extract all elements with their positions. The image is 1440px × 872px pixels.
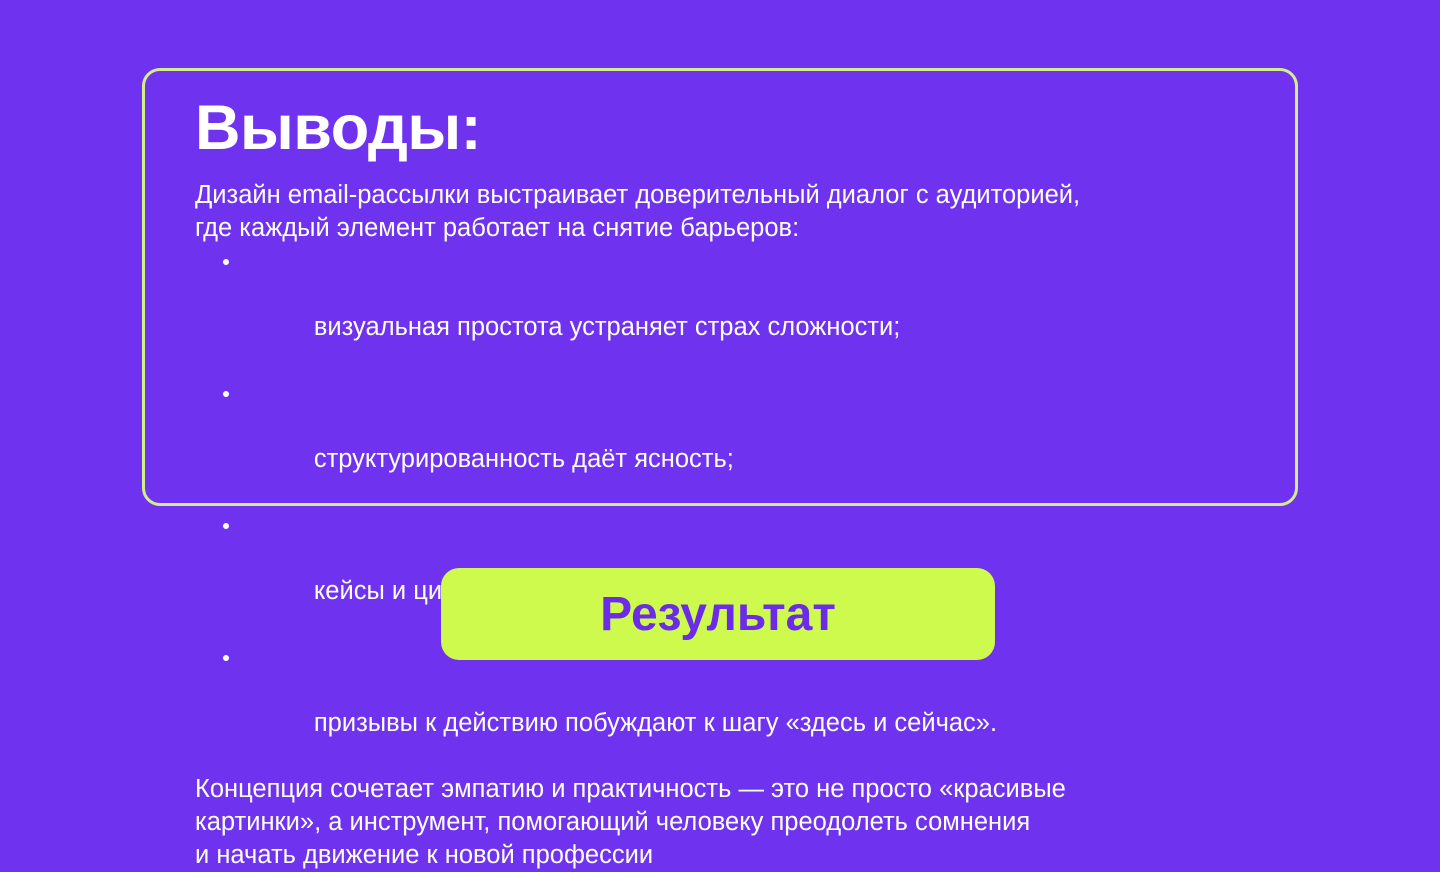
outro-line: и начать движение к новой профессии [195,839,1271,872]
intro-line: где каждый элемент работает на снятие ба… [195,212,1271,245]
list-item: визуальная простота устраняет страх слож… [195,245,1271,377]
outro-line: Концепция сочетает эмпатию и практичност… [195,773,1271,806]
bullet-dot-icon [223,655,229,661]
list-item-label: структурированность даёт ясность; [314,445,734,473]
conclusions-bullet-list: визуальная простота устраняет страх слож… [195,245,1271,773]
result-button[interactable]: Результат [441,568,995,660]
bullet-dot-icon [223,523,229,529]
page-title: Выводы: [195,93,1271,164]
list-item-label: визуальная простота устраняет страх слож… [314,313,901,341]
intro-paragraph: Дизайн email-рассылки выстраивает довери… [195,179,1271,245]
outro-paragraph: Концепция сочетает эмпатию и практичност… [195,773,1271,872]
outro-line: картинки», а инструмент, помогающий чело… [195,806,1271,839]
list-item: призывы к действию побуждают к шагу «зде… [195,641,1271,773]
bullet-dot-icon [223,391,229,397]
bullet-dot-icon [223,259,229,265]
conclusions-card: Выводы: Дизайн email-рассылки выстраивае… [142,68,1298,506]
list-item-label: призывы к действию побуждают к шагу «зде… [314,709,997,737]
slide-canvas: Выводы: Дизайн email-рассылки выстраивае… [0,0,1440,728]
card-content: Выводы: Дизайн email-рассылки выстраивае… [195,93,1271,872]
intro-line: Дизайн email-рассылки выстраивает довери… [195,179,1271,212]
list-item: структурированность даёт ясность; [195,377,1271,509]
